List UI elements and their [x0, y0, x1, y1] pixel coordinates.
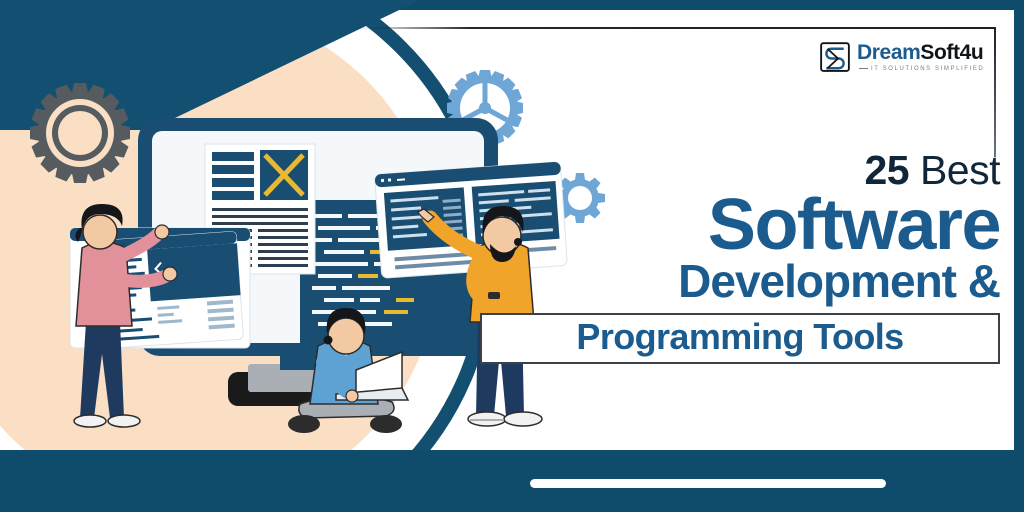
frame-rule-right	[994, 27, 996, 157]
gear-gray-large-icon	[9, 62, 150, 203]
brand-wordmark: DreamSoft4u	[857, 42, 984, 63]
headline-boxed-wrapper: Programming Tools	[480, 313, 1000, 364]
brand-tagline: IT SOLUTIONS SIMPLIFIED	[857, 66, 984, 72]
headline-boxed: Programming Tools	[492, 318, 988, 356]
brand-logo[interactable]: DreamSoft4u IT SOLUTIONS SIMPLIFIED	[820, 42, 984, 72]
brand-logo-text: DreamSoft4u IT SOLUTIONS SIMPLIFIED	[857, 42, 984, 72]
headline-sub: Development &	[480, 257, 1000, 305]
headline-main: Software	[480, 190, 1000, 261]
dreamsoft-s-mark-icon	[820, 42, 850, 72]
brand-tagline-text: IT SOLUTIONS SIMPLIFIED	[871, 66, 984, 72]
banner-root: DreamSoft4u IT SOLUTIONS SIMPLIFIED 25 B…	[0, 0, 1024, 512]
brand-name-part2: Soft4u	[920, 41, 983, 64]
tagline-dash-icon	[859, 68, 868, 69]
headline-block: 25 Best Software Development & Programmi…	[480, 150, 1000, 364]
brand-name-part1: Dream	[857, 41, 920, 64]
decorative-progress-pill	[530, 479, 886, 488]
